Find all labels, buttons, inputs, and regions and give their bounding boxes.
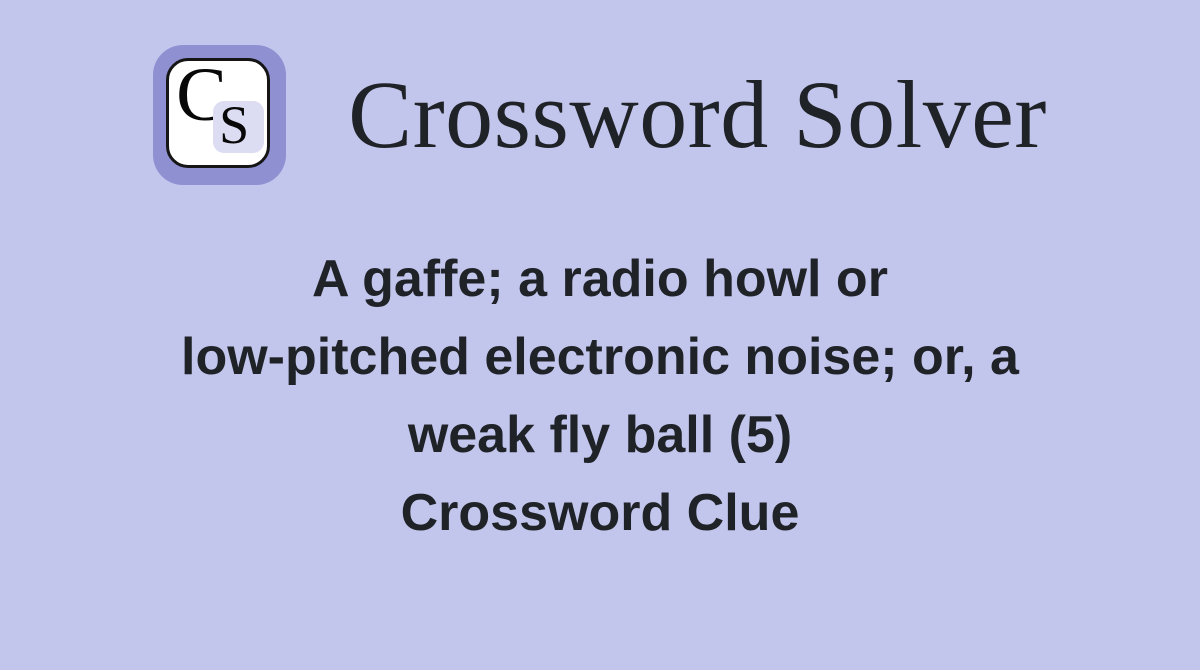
site-title[interactable]: Crossword Solver [348, 67, 1047, 163]
site-header: C S Crossword Solver [0, 42, 1200, 187]
logo-letter-s: S [219, 98, 249, 152]
clue-heading: A gaffe; a radio howl or low-pitched ele… [0, 240, 1200, 552]
crossword-solver-logo-icon[interactable]: C S [153, 45, 286, 185]
page-root: C S Crossword Solver A gaffe; a radio ho… [0, 0, 1200, 670]
clue-heading-line: low-pitched electronic noise; or, a [0, 318, 1200, 396]
logo-inner-tile: C S [166, 58, 270, 168]
clue-heading-line: A gaffe; a radio howl or [0, 240, 1200, 318]
clue-heading-line: Crossword Clue [0, 474, 1200, 552]
clue-heading-line: weak fly ball (5) [0, 396, 1200, 474]
